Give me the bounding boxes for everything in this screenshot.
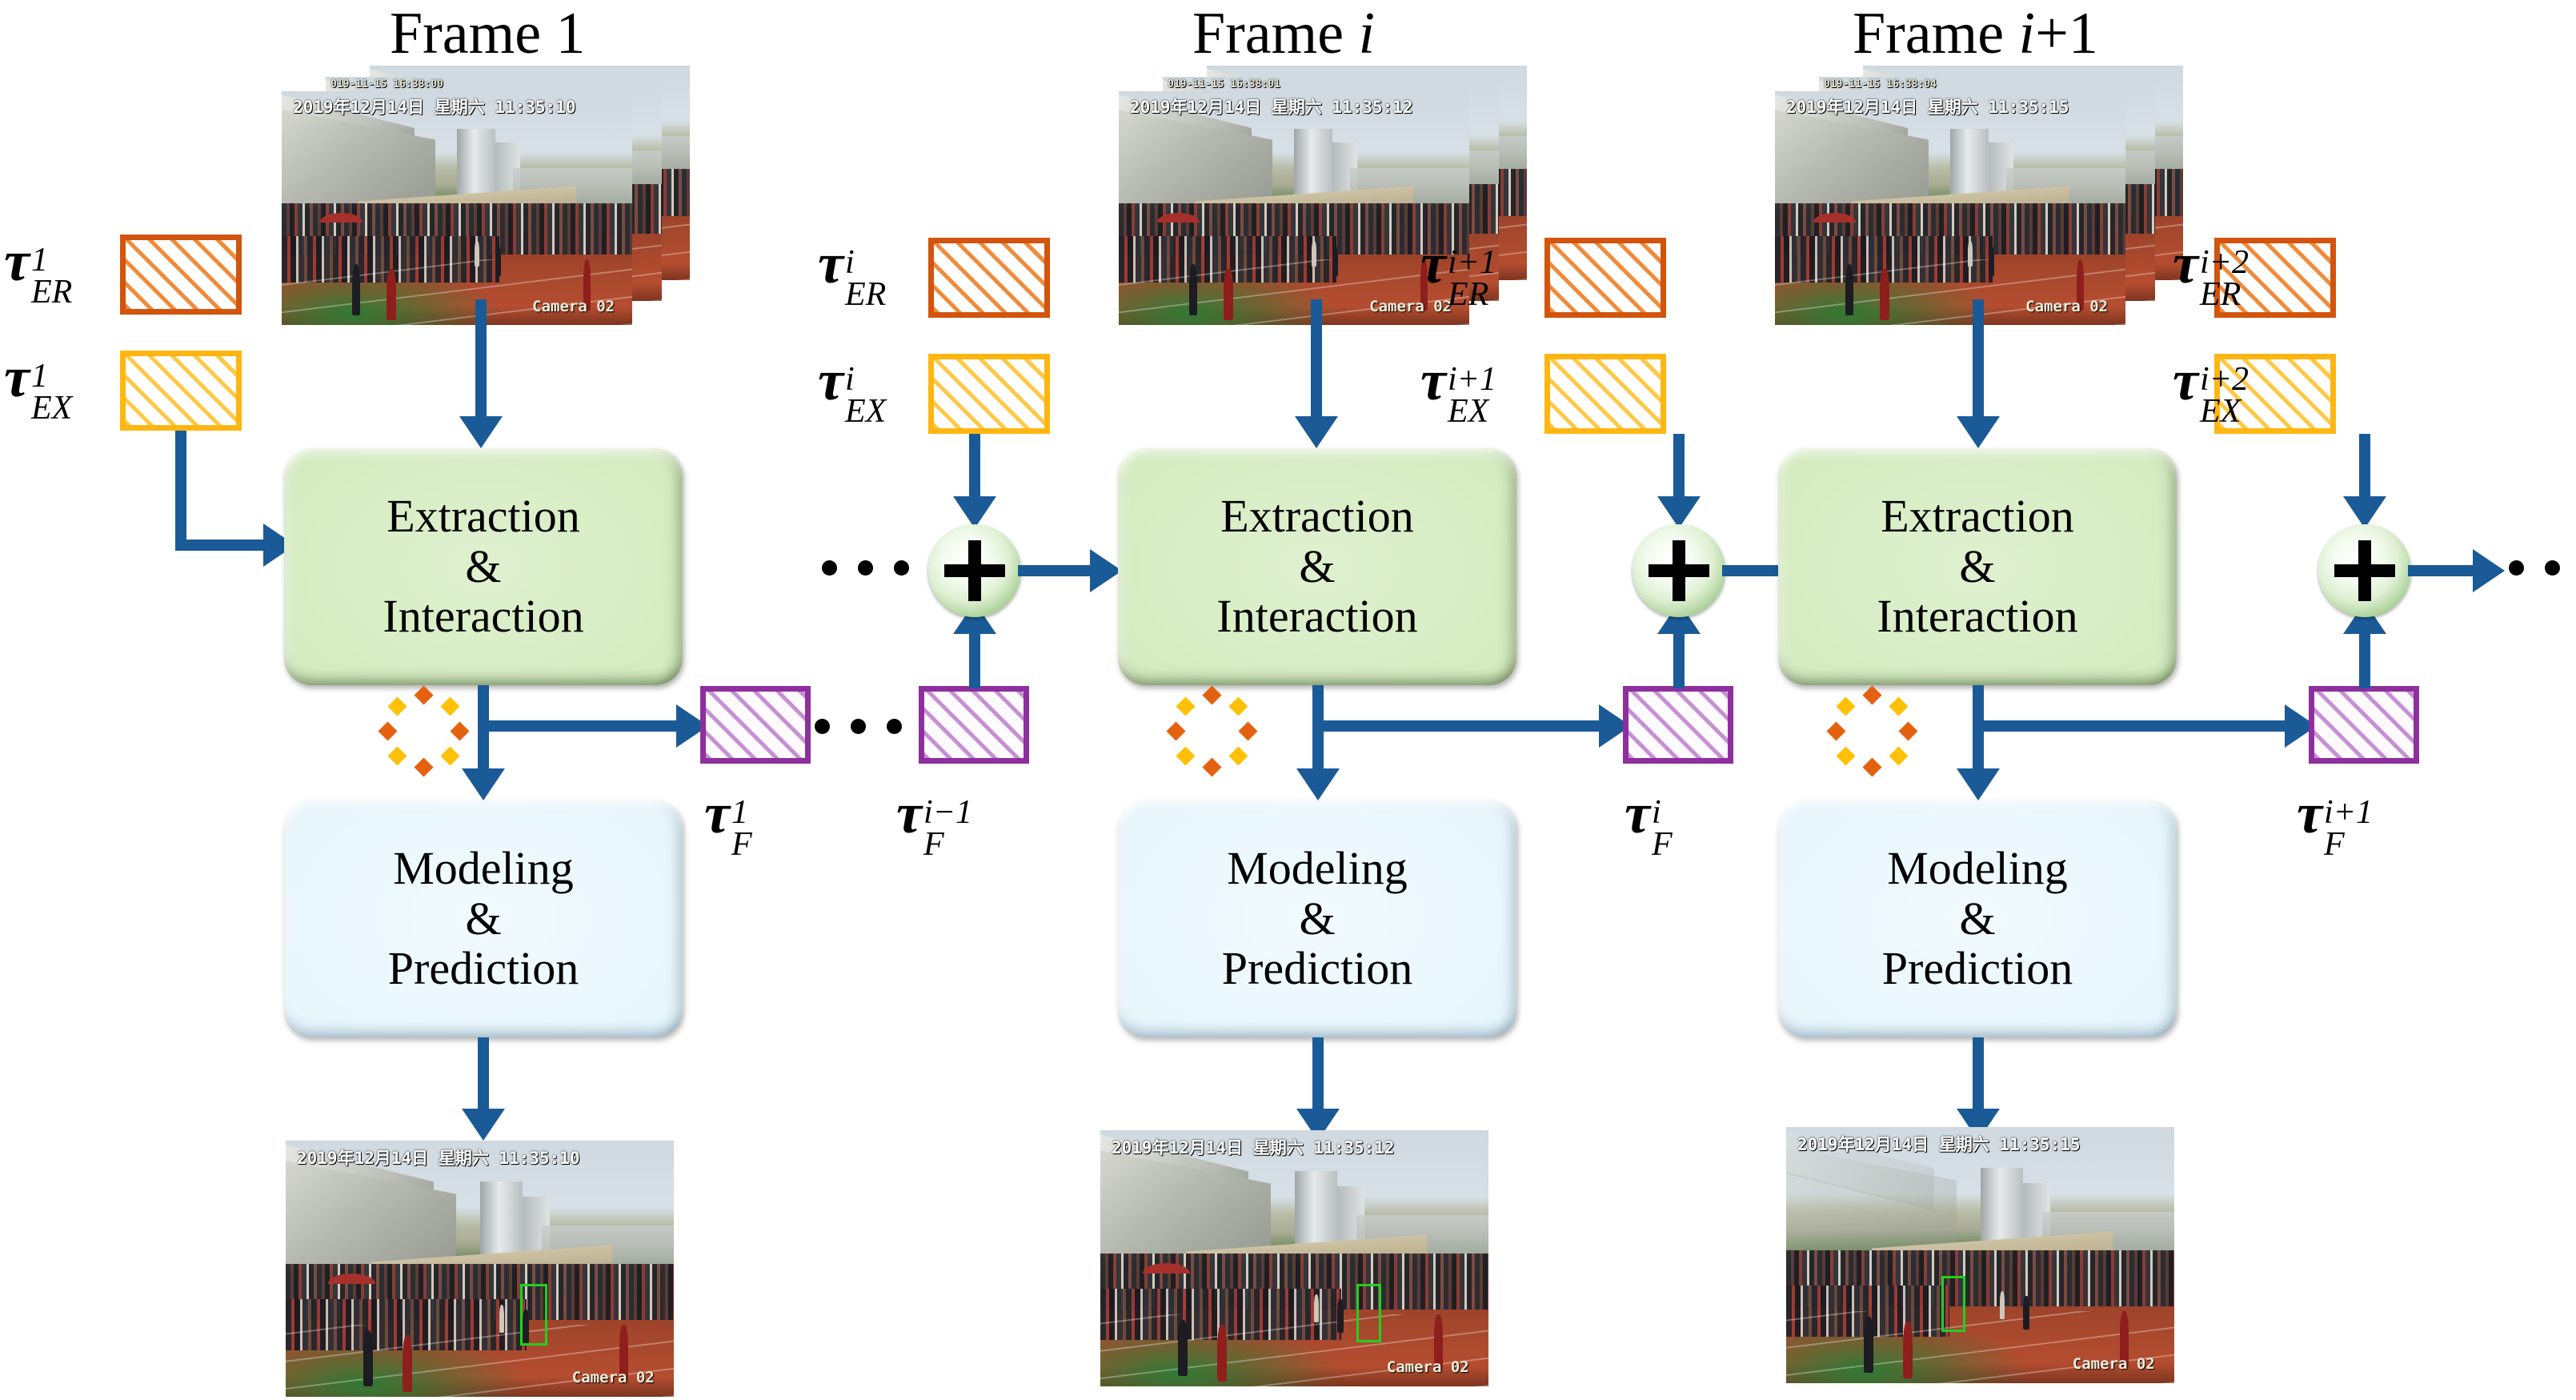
tau-superscript: i — [845, 247, 886, 279]
arrow-extraction1-down-segment — [478, 685, 489, 781]
extraction-line-3: Interaction — [1877, 592, 2077, 642]
tau-superscript: 1 — [31, 361, 72, 393]
tau-index-group: i+2ER — [2200, 247, 2249, 311]
tau-symbol: τ — [818, 231, 843, 295]
tau-subscript: F — [1652, 829, 1673, 861]
token-box-f-i — [1623, 686, 1733, 764]
modeling-line-2: & — [388, 894, 579, 945]
token-box-f-1 — [700, 686, 811, 764]
arrow-extraction2-down-segment — [1312, 685, 1324, 781]
tau-superscript: i — [1652, 797, 1673, 829]
process-box-extraction-1: Extraction & Interaction — [284, 448, 683, 685]
tau-subscript: EX — [1448, 396, 1496, 428]
token-box-f-i-plus-1 — [2309, 686, 2419, 764]
stadium-scene — [1119, 91, 1469, 325]
tau-symbol: τ — [1625, 781, 1650, 845]
tracked-person-bbox — [520, 1284, 547, 1345]
timestamp-overlay-tiny: 019-11-15 16:38:01 — [1168, 78, 1499, 90]
arrow-head-tail-right — [2473, 549, 2505, 592]
modeling-line-1: Modeling — [388, 844, 579, 894]
input-frame-front-1: 2019年12月14日 星期六 11:35:10 Camera 02 — [282, 91, 632, 325]
process-box-modeling-3: Modeling & Prediction — [1778, 800, 2177, 1037]
tracked-person-bbox — [1941, 1276, 1965, 1332]
ellipsis-dot — [858, 560, 873, 576]
timestamp-overlay-big: 2019年12月14日 星期六 11:35:10 — [293, 94, 632, 118]
camera-watermark: Camera 02 — [1387, 1358, 1469, 1376]
process-box-extraction-2: Extraction & Interaction — [1118, 448, 1516, 685]
arrow-ex1-right-segment — [175, 540, 263, 551]
token-label-ex-i-plus-2: τi+2EX — [2173, 347, 2247, 428]
plus-vertical-bar — [1673, 540, 1685, 602]
tau-superscript: i+2 — [2200, 247, 2249, 279]
token-box-er-1 — [120, 235, 242, 315]
timestamp-overlay-tiny: 019-11-15 16:38:00 — [331, 78, 662, 90]
arrow-head-into-modeling-2 — [1296, 768, 1340, 800]
extraction-line-1: Extraction — [383, 491, 583, 542]
token-label-f-i: τiF — [1625, 780, 1671, 861]
plus-vertical-bar — [2358, 540, 2371, 602]
frame-title-i: Frame i — [1192, 4, 1375, 63]
frame-title-ip1-index: i — [2019, 1, 2036, 66]
extraction-line-3: Interaction — [1216, 592, 1417, 642]
stadium-scene — [1786, 1127, 2174, 1383]
frame-title-ip1-text: Frame — [1853, 1, 2019, 66]
frame-title-i-plus-1: Frame i+1 — [1853, 4, 2098, 63]
extraction-line-3: Interaction — [383, 592, 583, 642]
modeling-line-2: & — [1222, 894, 1412, 945]
extraction-line-2: & — [383, 542, 583, 592]
modeling-line-3: Prediction — [388, 944, 579, 994]
dotted-ring-1 — [380, 688, 467, 775]
tau-subscript: ER — [2200, 279, 2249, 311]
arrow-head-into-plus-top-2 — [1657, 496, 1701, 528]
dotted-ring-3 — [1829, 688, 1915, 775]
tau-subscript: F — [731, 829, 752, 861]
ellipsis-dot — [887, 719, 902, 734]
ellipsis-dot — [822, 560, 837, 576]
token-box-ex-1 — [120, 351, 242, 431]
tau-subscript: ER — [845, 279, 886, 311]
input-frame-front-3: 2019年12月14日 星期六 11:35:15 Camera 02 — [1775, 91, 2125, 325]
output-frame-2: 2019年12月14日 星期六 11:35:12 Camera 02 — [1100, 1130, 1488, 1386]
tau-index-group: i+1EX — [1448, 364, 1496, 428]
token-label-er-i-plus-2: τi+2ER — [2173, 231, 2247, 311]
arrow-frame1-down — [475, 299, 487, 419]
timestamp-overlay-big: 2019年12月14日 星期六 11:35:12 — [1130, 94, 1469, 118]
ellipsis-midline-1 — [822, 560, 909, 576]
tau-symbol: τ — [704, 781, 730, 845]
tau-subscript: EX — [845, 396, 886, 428]
token-label-er-i: τiER — [818, 231, 884, 311]
tau-symbol: τ — [2173, 348, 2198, 412]
tau-symbol: τ — [1420, 348, 1446, 412]
camera-watermark: Camera 02 — [2073, 1355, 2155, 1373]
tau-subscript: EX — [2200, 396, 2249, 428]
ellipsis-dot — [2509, 560, 2524, 576]
timestamp-overlay-big: 2019年12月14日 星期六 11:35:12 — [1112, 1135, 1488, 1159]
camera-watermark: Camera 02 — [572, 1369, 655, 1386]
stadium-scene — [1775, 91, 2125, 325]
ellipsis-dot — [815, 719, 830, 734]
tau-index-group: i+2EX — [2200, 364, 2249, 428]
camera-watermark: Camera 02 — [532, 298, 615, 315]
tau-index-group: iER — [845, 247, 886, 311]
arrow-extraction3-down-segment — [1973, 685, 1984, 781]
process-box-modeling-2: Modeling & Prediction — [1118, 800, 1516, 1037]
output-frame-3: 2019年12月14日 星期六 11:35:15 Camera 02 — [1786, 1127, 2174, 1383]
arrow-head-into-modeling-1 — [462, 768, 505, 800]
extraction-line-2: & — [1216, 542, 1417, 592]
extraction-line-2: & — [1877, 542, 2077, 592]
ellipsis-tail — [2509, 560, 2576, 576]
token-label-ex-i: τiEX — [818, 347, 884, 428]
plus-node-3[interactable] — [2318, 524, 2411, 617]
tau-superscript: i+2 — [2200, 364, 2249, 396]
arrow-head-into-plus-top-1 — [953, 496, 996, 528]
arrow-plus3-right-segment — [2408, 565, 2476, 576]
token-label-ex-1: τ1EX — [4, 344, 70, 425]
tracked-person-bbox — [1356, 1284, 1381, 1342]
tau-index-group: i−1F — [923, 797, 972, 861]
frame-title-i-index: i — [1359, 1, 1376, 66]
stadium-scene — [1100, 1130, 1488, 1386]
tau-superscript: i+1 — [1448, 364, 1496, 396]
arrow-fip1-up-segment — [2359, 632, 2370, 688]
arrow-head-into-plus-top-3 — [2343, 496, 2386, 528]
extraction-line-1: Extraction — [1216, 491, 1417, 542]
token-label-er-i-plus-1: τi+1ER — [1420, 231, 1495, 311]
tau-index-group: 1EX — [31, 361, 72, 425]
ellipsis-dot — [2545, 560, 2560, 576]
ellipsis-dot — [851, 719, 866, 734]
tau-subscript: EX — [31, 393, 72, 425]
tau-symbol: τ — [4, 229, 30, 293]
arrow-extraction3-right-segment — [1973, 720, 2289, 732]
output-frame-1: 2019年12月14日 星期六 11:35:10 Camera 02 — [286, 1141, 674, 1397]
tau-superscript: i — [845, 364, 886, 396]
token-box-er-i — [928, 238, 1050, 318]
tau-symbol: τ — [1420, 231, 1446, 295]
token-label-f-i-minus-1: τi−1F — [896, 780, 971, 861]
modeling-line-1: Modeling — [1222, 844, 1412, 894]
arrow-fim1-up-segment — [969, 632, 980, 688]
tau-superscript: 1 — [731, 797, 752, 829]
frame-title-i-text: Frame — [1192, 1, 1359, 66]
tau-superscript: i−1 — [923, 797, 972, 829]
stadium-scene — [282, 91, 632, 325]
plus-node-1[interactable] — [928, 524, 1021, 617]
timestamp-overlay-big: 2019年12月14日 星期六 11:35:10 — [297, 1145, 674, 1169]
modeling-line-2: & — [1882, 894, 2073, 945]
token-box-f-i-minus-1 — [919, 686, 1029, 764]
token-box-ex-i-plus-1 — [1544, 354, 1666, 434]
tau-subscript: ER — [31, 277, 72, 309]
tau-index-group: i+1ER — [1448, 247, 1496, 311]
input-frame-front-2: 2019年12月14日 星期六 11:35:12 Camera 02 — [1119, 91, 1469, 325]
modeling-line-1: Modeling — [1882, 844, 2073, 894]
token-label-ex-i-plus-1: τi+1EX — [1420, 347, 1495, 428]
tau-subscript: F — [2324, 829, 2373, 861]
tau-symbol: τ — [4, 345, 30, 409]
arrow-head-into-extraction-2 — [1090, 549, 1122, 592]
arrow-head-into-output-1 — [462, 1109, 505, 1141]
arrow-head-into-extraction-top-3 — [1957, 416, 2000, 448]
arrow-fi-up-segment — [1673, 632, 1685, 688]
token-label-er-1: τ1ER — [4, 228, 70, 309]
ellipsis-dot — [894, 560, 909, 576]
tau-index-group: iEX — [845, 364, 886, 428]
arrow-plus1-right-segment — [1018, 565, 1094, 576]
tau-symbol: τ — [2297, 781, 2322, 845]
input-frame-stack-1: 019-11-15 16:38:00 2019年12月14日 星期六 11:32… — [282, 66, 698, 346]
arrow-frame3-down — [1973, 299, 1984, 419]
arrow-head-into-extraction-top-2 — [1295, 416, 1338, 448]
arrow-frame2-down — [1311, 299, 1322, 419]
token-box-ex-i — [928, 354, 1050, 434]
tau-subscript: F — [923, 829, 972, 861]
frame-title-1-index: 1 — [556, 1, 586, 66]
timestamp-overlay-big: 2019年12月14日 星期六 11:35:15 — [1797, 1132, 2174, 1156]
tau-superscript: 1 — [31, 245, 72, 277]
plus-vertical-bar — [968, 540, 981, 602]
token-label-f-1: τ1F — [704, 780, 751, 861]
tau-symbol: τ — [896, 781, 922, 845]
frame-title-1: Frame 1 — [390, 4, 586, 63]
tau-index-group: 1F — [731, 797, 752, 861]
arrow-head-into-modeling-3 — [1957, 768, 2000, 800]
modeling-line-3: Prediction — [1222, 944, 1412, 994]
tau-symbol: τ — [2173, 231, 2198, 295]
timestamp-overlay-big: 2019年12月14日 星期六 11:35:15 — [1786, 94, 2125, 118]
tau-superscript: i+1 — [1448, 247, 1496, 279]
modeling-line-3: Prediction — [1882, 944, 2073, 994]
token-label-f-i-plus-1: τi+1F — [2297, 780, 2371, 861]
plus-node-2[interactable] — [1633, 524, 1725, 617]
process-box-modeling-1: Modeling & Prediction — [284, 800, 683, 1037]
process-box-extraction-3: Extraction & Interaction — [1778, 448, 2177, 685]
dotted-ring-2 — [1168, 688, 1255, 775]
diagram-canvas: Frame 1 Frame i Frame i+1 — [0, 0, 2576, 1400]
ellipsis-tokenline-1 — [815, 719, 902, 734]
arrow-extraction2-right-segment — [1312, 720, 1600, 732]
extraction-line-1: Extraction — [1877, 491, 2077, 542]
tau-superscript: i+1 — [2324, 797, 2373, 829]
camera-watermark: Camera 02 — [2025, 298, 2108, 315]
stadium-scene — [286, 1141, 674, 1397]
arrow-extraction1-right-segment — [478, 720, 678, 732]
tau-symbol: τ — [818, 348, 843, 412]
tau-index-group: iF — [1652, 797, 1673, 861]
timestamp-overlay-tiny: 019-11-15 16:38:04 — [1824, 78, 2155, 90]
arrow-head-into-extraction-top-1 — [459, 416, 503, 448]
token-box-er-i-plus-1 — [1544, 238, 1666, 318]
tau-index-group: 1ER — [31, 245, 72, 309]
tau-subscript: ER — [1448, 279, 1496, 311]
arrow-ex1-down-segment — [175, 431, 186, 551]
tau-index-group: i+1F — [2324, 797, 2373, 861]
frame-title-ip1-suffix: +1 — [2035, 1, 2098, 66]
frame-title-1-text: Frame — [390, 1, 556, 66]
